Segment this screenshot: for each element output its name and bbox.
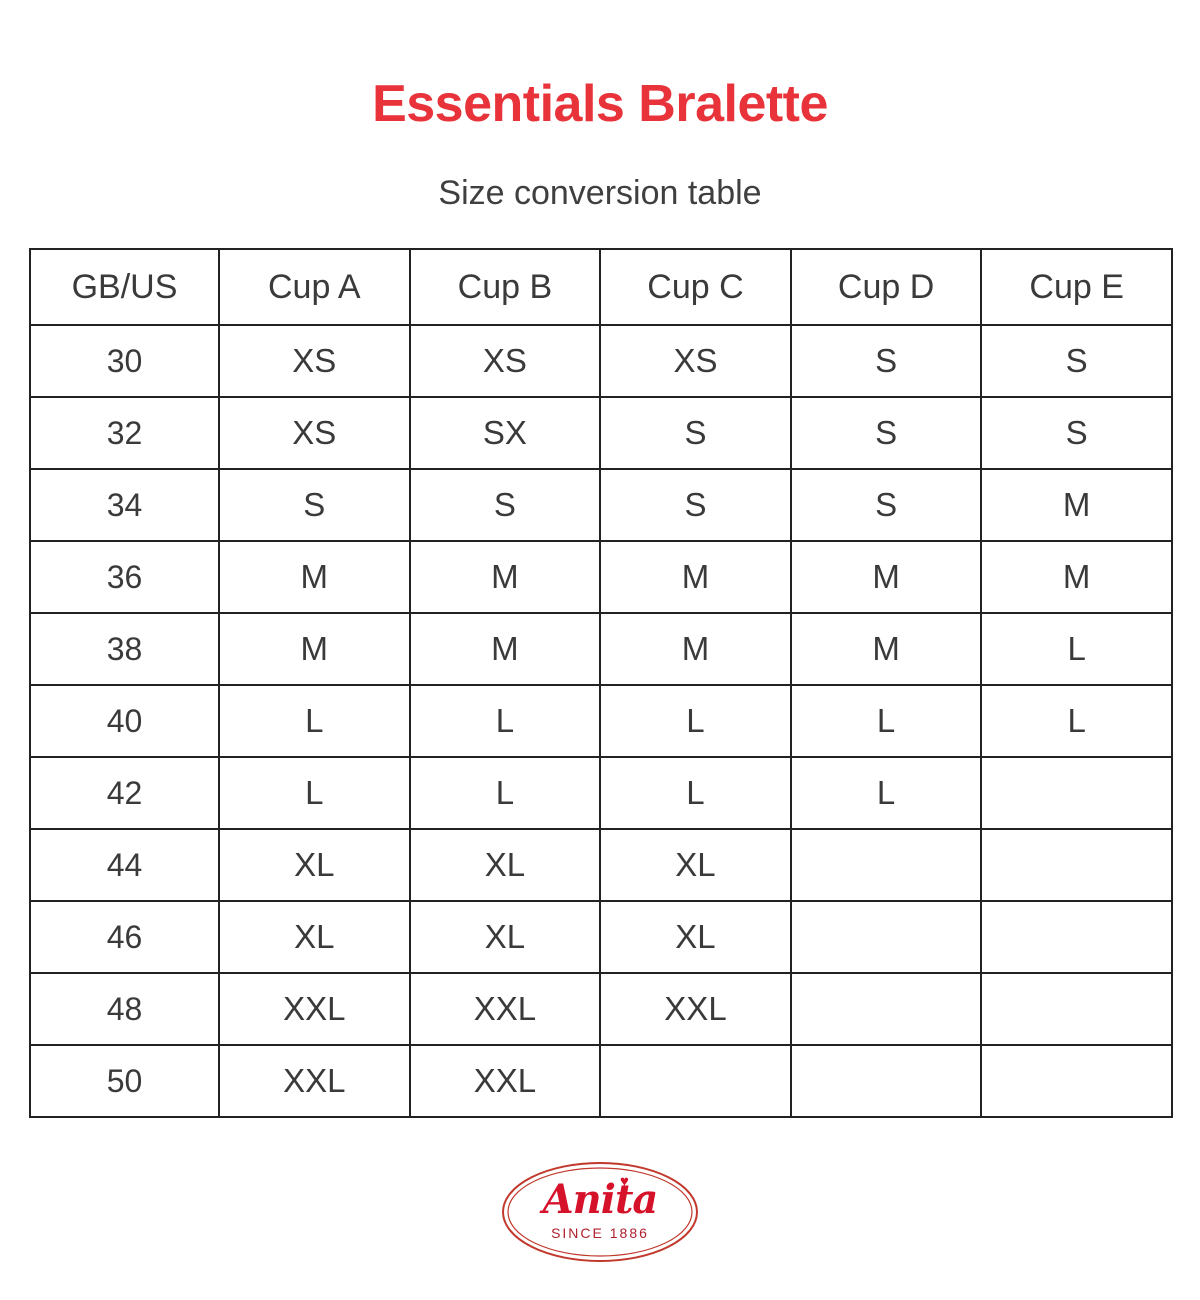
logo-brand-name: Anita	[500, 1180, 700, 1220]
size-cell: S	[410, 469, 601, 541]
size-cell: S	[791, 469, 982, 541]
size-cell: XS	[600, 325, 791, 397]
table-row: 40LLLLL	[30, 685, 1172, 757]
size-cell: XL	[219, 829, 410, 901]
size-cell	[981, 973, 1172, 1045]
size-cell: M	[410, 613, 601, 685]
row-header-gbus: 48	[30, 973, 219, 1045]
size-cell: M	[219, 541, 410, 613]
size-cell: M	[600, 613, 791, 685]
row-header-gbus: 46	[30, 901, 219, 973]
size-cell: S	[981, 397, 1172, 469]
size-cell: XL	[219, 901, 410, 973]
anita-logo: ♥ Anita SINCE 1886	[500, 1160, 700, 1264]
table-row: 36MMMMM	[30, 541, 1172, 613]
size-cell: S	[600, 469, 791, 541]
size-cell: XL	[410, 829, 601, 901]
size-cell: L	[410, 685, 601, 757]
size-cell: L	[600, 757, 791, 829]
size-cell: L	[600, 685, 791, 757]
size-cell: S	[600, 397, 791, 469]
size-cell	[981, 1045, 1172, 1117]
size-cell: XL	[600, 901, 791, 973]
row-header-gbus: 32	[30, 397, 219, 469]
size-cell: L	[791, 757, 982, 829]
column-header-cup-c: Cup C	[600, 249, 791, 325]
size-cell: L	[791, 685, 982, 757]
size-cell	[791, 973, 982, 1045]
size-conversion-table: GB/USCup ACup BCup CCup DCup E 30XSXSXSS…	[29, 248, 1173, 1118]
size-cell	[981, 829, 1172, 901]
size-cell	[791, 829, 982, 901]
size-cell: XXL	[600, 973, 791, 1045]
size-cell: S	[791, 397, 982, 469]
page-subtitle: Size conversion table	[438, 176, 761, 210]
table-row: 44XLXLXL	[30, 829, 1172, 901]
size-cell: XS	[219, 325, 410, 397]
size-cell	[791, 1045, 982, 1117]
size-cell: S	[791, 325, 982, 397]
size-chart-page: Essentials Bralette Size conversion tabl…	[0, 0, 1200, 1300]
size-cell: M	[410, 541, 601, 613]
size-cell: XS	[219, 397, 410, 469]
row-header-gbus: 38	[30, 613, 219, 685]
size-cell	[791, 901, 982, 973]
row-header-gbus: 44	[30, 829, 219, 901]
logo-tagline: SINCE 1886	[500, 1226, 700, 1240]
size-cell	[981, 901, 1172, 973]
size-cell: L	[410, 757, 601, 829]
table-header-row: GB/USCup ACup BCup CCup DCup E	[30, 249, 1172, 325]
size-cell: SX	[410, 397, 601, 469]
size-cell: M	[981, 541, 1172, 613]
table-row: 42LLLL	[30, 757, 1172, 829]
row-header-gbus: 50	[30, 1045, 219, 1117]
size-cell: XS	[410, 325, 601, 397]
column-header-cup-a: Cup A	[219, 249, 410, 325]
size-cell: L	[219, 685, 410, 757]
row-header-gbus: 36	[30, 541, 219, 613]
size-cell: M	[791, 613, 982, 685]
size-cell: S	[981, 325, 1172, 397]
size-cell: XXL	[410, 1045, 601, 1117]
row-header-gbus: 30	[30, 325, 219, 397]
size-cell: L	[981, 613, 1172, 685]
table-row: 46XLXLXL	[30, 901, 1172, 973]
brand-logo-area: ♥ Anita SINCE 1886	[0, 1160, 1200, 1264]
table-body: 30XSXSXSSS32XSSXSSS34SSSSM36MMMMM38MMMML…	[30, 325, 1172, 1117]
page-title: Essentials Bralette	[372, 78, 828, 130]
column-header-cup-b: Cup B	[410, 249, 601, 325]
size-cell: L	[981, 685, 1172, 757]
size-cell: L	[219, 757, 410, 829]
size-cell: M	[219, 613, 410, 685]
table-row: 38MMMML	[30, 613, 1172, 685]
table-row: 48XXLXXLXXL	[30, 973, 1172, 1045]
size-cell: S	[219, 469, 410, 541]
column-header-cup-e: Cup E	[981, 249, 1172, 325]
table-row: 34SSSSM	[30, 469, 1172, 541]
size-cell: M	[600, 541, 791, 613]
size-cell: XL	[600, 829, 791, 901]
table-header: GB/USCup ACup BCup CCup DCup E	[30, 249, 1172, 325]
size-cell: XXL	[410, 973, 601, 1045]
table-row: 30XSXSXSSS	[30, 325, 1172, 397]
size-table-wrapper: GB/USCup ACup BCup CCup DCup E 30XSXSXSS…	[29, 248, 1171, 1118]
size-cell: M	[981, 469, 1172, 541]
size-cell: XXL	[219, 973, 410, 1045]
size-cell: M	[791, 541, 982, 613]
size-cell	[600, 1045, 791, 1117]
column-header-gb-us: GB/US	[30, 249, 219, 325]
size-cell	[981, 757, 1172, 829]
column-header-cup-d: Cup D	[791, 249, 982, 325]
row-header-gbus: 34	[30, 469, 219, 541]
size-cell: XXL	[219, 1045, 410, 1117]
row-header-gbus: 42	[30, 757, 219, 829]
table-row: 50XXLXXL	[30, 1045, 1172, 1117]
size-cell: XL	[410, 901, 601, 973]
table-row: 32XSSXSSS	[30, 397, 1172, 469]
row-header-gbus: 40	[30, 685, 219, 757]
